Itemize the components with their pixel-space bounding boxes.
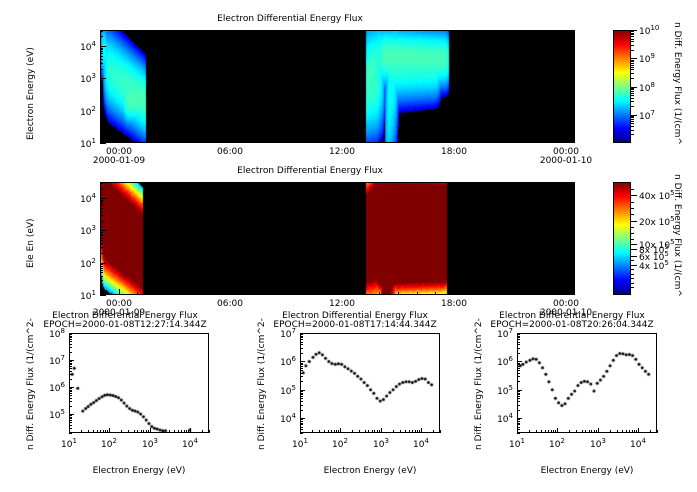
tick-label: 101	[58, 289, 96, 302]
tick-mark	[324, 430, 325, 433]
tick-mark	[105, 430, 106, 433]
tick-mark	[631, 233, 634, 234]
tick-mark	[100, 230, 106, 231]
tick-mark	[510, 140, 511, 143]
tick-mark	[300, 381, 303, 382]
tick-mark	[69, 371, 72, 372]
tick-mark	[69, 352, 72, 353]
tick-mark	[156, 292, 157, 295]
panel-1-title: Electron Differential Energy Flux	[0, 14, 580, 24]
tick-mark	[517, 391, 520, 392]
tick-mark	[69, 361, 72, 362]
tick-mark	[69, 374, 72, 375]
panel-1-colorbar-canvas	[613, 30, 631, 143]
tick-mark	[368, 430, 369, 433]
tick-label: 105	[262, 384, 296, 397]
tick-mark	[626, 430, 627, 433]
tick-mark	[300, 339, 303, 340]
tick-mark	[634, 430, 635, 433]
tick-mark	[305, 292, 306, 295]
tick-label: 107	[31, 354, 65, 367]
tick-mark	[69, 420, 72, 421]
tick-mark	[300, 421, 303, 422]
tick-mark	[631, 121, 634, 122]
tick-mark	[148, 430, 149, 433]
tick-mark	[300, 424, 303, 425]
tick-label: 101	[501, 437, 533, 450]
tick-mark	[175, 292, 176, 295]
tick-mark	[300, 423, 303, 424]
tick-mark	[631, 119, 634, 120]
tick-mark	[529, 430, 530, 433]
tick-mark	[379, 140, 380, 143]
panel-2-colorbar-label: n Diff. Energy Flux (1/(cm^	[672, 174, 682, 297]
tick-label: 102	[324, 437, 356, 450]
tick-label: 107	[639, 109, 655, 122]
tick-mark	[300, 336, 303, 337]
tick-mark	[100, 120, 103, 121]
tick-mark	[547, 292, 548, 295]
tick-mark	[300, 348, 303, 349]
tick-mark	[400, 430, 401, 433]
tick-mark	[631, 195, 637, 196]
tick-mark	[100, 292, 101, 295]
tick-mark	[69, 379, 72, 380]
tick-mark	[300, 334, 303, 335]
tick-mark	[100, 215, 103, 216]
tick-mark	[379, 292, 380, 295]
tick-mark	[100, 232, 103, 233]
tick-mark	[412, 430, 413, 433]
tick-mark	[193, 292, 194, 295]
tick-mark	[528, 292, 529, 295]
panel-2-heatmap-canvas	[100, 182, 575, 295]
tick-mark	[305, 140, 306, 143]
tick-mark	[300, 428, 301, 433]
tick-label: 105	[479, 384, 513, 397]
tick-mark	[162, 430, 163, 433]
tick-mark	[517, 344, 520, 345]
tick-label: 106	[262, 355, 296, 368]
tick-mark	[300, 370, 303, 371]
tick-mark	[300, 361, 305, 362]
tick-mark	[119, 137, 120, 143]
tick-mark	[100, 253, 103, 254]
tick-mark	[100, 270, 103, 271]
tick-mark	[324, 292, 325, 295]
tick-mark	[491, 140, 492, 143]
tick-mark	[582, 430, 583, 433]
tick-mark	[491, 292, 492, 295]
tick-mark	[69, 393, 72, 394]
tick-mark	[631, 93, 634, 94]
tick-mark	[319, 430, 320, 433]
tick-mark	[517, 368, 520, 369]
tick-mark	[545, 430, 546, 433]
tick-mark	[433, 430, 434, 433]
tick-mark	[69, 368, 72, 369]
tick-mark	[69, 344, 72, 345]
tick-mark	[69, 418, 72, 419]
tick-mark	[379, 430, 380, 433]
tick-mark	[69, 406, 72, 407]
tick-mark	[517, 337, 520, 338]
tick-mark	[517, 366, 520, 367]
panel-1-heatmap-canvas	[100, 30, 575, 143]
tick-mark	[100, 124, 103, 125]
tick-mark	[517, 423, 520, 424]
tick-mark	[365, 430, 366, 433]
tick-label: 06:00	[212, 147, 248, 157]
tick-mark	[631, 106, 634, 107]
tick-mark	[100, 49, 103, 50]
tick-mark	[190, 428, 191, 433]
tick-mark	[510, 292, 511, 295]
tick-label: 12:00	[324, 147, 360, 157]
tick-mark	[398, 140, 399, 143]
tick-mark	[638, 428, 639, 433]
panel-2-ylabel: Ele En (eV)	[26, 218, 36, 268]
tick-label: 2000-01-09	[91, 156, 147, 166]
tick-mark	[100, 91, 103, 92]
tick-mark	[300, 342, 303, 343]
tick-mark	[143, 430, 144, 433]
tick-label: 1010	[639, 24, 659, 37]
tick-mark	[69, 334, 72, 335]
tick-mark	[631, 61, 634, 62]
tick-label: 106	[31, 381, 65, 394]
panel-4-xlabel: Electron Energy (eV)	[300, 466, 440, 476]
tick-label: 2000-01-10	[538, 156, 594, 166]
tick-mark	[300, 393, 303, 394]
tick-mark	[631, 134, 634, 135]
tick-mark	[576, 430, 577, 433]
tick-mark	[100, 201, 103, 202]
tick-mark	[631, 274, 634, 275]
tick-mark	[100, 272, 103, 273]
tick-mark	[69, 366, 72, 367]
tick-mark	[100, 69, 103, 70]
tick-mark	[100, 276, 103, 277]
tick-mark	[69, 337, 72, 338]
tick-mark	[100, 235, 103, 236]
tick-mark	[336, 430, 337, 433]
tick-mark	[372, 430, 373, 433]
tick-mark	[352, 430, 353, 433]
tick-mark	[631, 63, 634, 64]
tick-mark	[631, 101, 634, 102]
tick-mark	[100, 31, 103, 32]
tick-mark	[100, 268, 103, 269]
tick-mark	[631, 73, 634, 74]
tick-mark	[566, 289, 567, 295]
tick-mark	[631, 278, 634, 279]
tick-mark	[169, 430, 170, 433]
tick-mark	[88, 430, 89, 433]
tick-mark	[421, 428, 422, 433]
tick-mark	[324, 140, 325, 143]
tick-mark	[100, 234, 103, 235]
tick-mark	[109, 428, 110, 433]
tick-mark	[69, 363, 72, 364]
tick-mark	[551, 430, 552, 433]
tick-mark	[300, 391, 303, 392]
tick-mark	[517, 381, 520, 382]
tick-label: 102	[541, 437, 573, 450]
tick-mark	[69, 401, 72, 402]
tick-mark	[553, 430, 554, 433]
tick-mark	[631, 123, 634, 124]
tick-mark	[268, 140, 269, 143]
tick-mark	[100, 112, 103, 113]
tick-mark	[100, 114, 103, 115]
tick-label: 12:00	[324, 299, 360, 309]
tick-label: 108	[639, 81, 655, 94]
tick-mark	[100, 203, 103, 204]
tick-mark	[103, 430, 104, 433]
tick-mark	[100, 116, 103, 117]
tick-mark	[631, 117, 634, 118]
tick-mark	[100, 143, 106, 144]
tick-label: 109	[639, 52, 655, 65]
tick-mark	[100, 200, 103, 201]
tick-label: 103	[58, 224, 96, 237]
tick-mark	[473, 140, 474, 143]
tick-mark	[338, 430, 339, 433]
tick-mark	[631, 41, 634, 42]
tick-mark	[409, 430, 410, 433]
tick-mark	[536, 430, 537, 433]
tick-mark	[517, 394, 520, 395]
tick-mark	[286, 140, 287, 143]
tick-mark	[137, 292, 138, 295]
tick-mark	[631, 189, 634, 190]
tick-mark	[69, 388, 72, 389]
tick-mark	[100, 243, 103, 244]
tick-mark	[174, 430, 175, 433]
tick-mark	[150, 428, 151, 433]
tick-mark	[300, 433, 303, 434]
tick-mark	[631, 58, 637, 59]
tick-mark	[517, 419, 520, 420]
tick-label: 104	[622, 437, 654, 450]
tick-mark	[631, 265, 637, 266]
tick-mark	[100, 295, 106, 296]
tick-mark	[100, 128, 103, 129]
tick-label: 102	[58, 105, 96, 118]
tick-mark	[631, 283, 634, 284]
tick-label: 105	[31, 408, 65, 421]
tick-mark	[517, 428, 518, 433]
tick-mark	[359, 430, 360, 433]
tick-mark	[589, 430, 590, 433]
tick-mark	[435, 140, 436, 143]
tick-mark	[100, 48, 103, 49]
tick-mark	[517, 361, 522, 362]
tick-mark	[631, 91, 634, 92]
tick-mark	[100, 46, 106, 47]
tick-mark	[617, 430, 618, 433]
tick-mark	[417, 140, 418, 143]
tick-mark	[631, 126, 634, 127]
tick-label: 101	[53, 437, 85, 450]
tick-mark	[69, 398, 72, 399]
tick-mark	[100, 280, 103, 281]
tick-mark	[100, 240, 103, 241]
tick-mark	[517, 398, 520, 399]
tick-label: 40x 105	[639, 189, 675, 202]
tick-mark	[134, 430, 135, 433]
tick-mark	[361, 292, 362, 295]
tick-mark	[631, 208, 634, 209]
tick-mark	[300, 373, 303, 374]
tick-mark	[569, 430, 570, 433]
panel-4-scatter-canvas	[300, 333, 440, 433]
tick-mark	[361, 140, 362, 143]
tick-mark	[591, 430, 592, 433]
tick-label: 20x 105	[639, 215, 675, 228]
tick-mark	[631, 34, 634, 35]
tick-mark	[473, 292, 474, 295]
panel-2-colorbar-canvas	[613, 182, 631, 295]
tick-mark	[100, 63, 103, 64]
tick-mark	[517, 421, 520, 422]
tick-mark	[548, 430, 549, 433]
tick-mark	[631, 221, 637, 222]
tick-mark	[517, 334, 520, 335]
tick-mark	[517, 339, 520, 340]
panel-1-ylabel: Electron Energy (eV)	[26, 47, 36, 140]
tick-mark	[178, 430, 179, 433]
tick-label: 107	[262, 327, 296, 340]
tick-mark	[300, 366, 303, 367]
tick-mark	[631, 89, 634, 90]
tick-mark	[631, 130, 634, 131]
tick-mark	[377, 430, 378, 433]
tick-mark	[81, 430, 82, 433]
tick-label: 103	[582, 437, 614, 450]
tick-mark	[230, 289, 231, 295]
tick-mark	[300, 368, 303, 369]
tick-label: 104	[58, 192, 96, 205]
tick-mark	[631, 116, 634, 117]
tick-mark	[100, 53, 103, 54]
tick-mark	[631, 69, 634, 70]
tick-mark	[137, 430, 138, 433]
tick-mark	[631, 39, 634, 40]
panel-1-colorbar-label: n Diff. Energy Flux (1/(cm^	[672, 22, 682, 145]
tick-mark	[212, 292, 213, 295]
tick-mark	[517, 373, 520, 374]
tick-mark	[517, 433, 520, 434]
tick-label: 104	[262, 412, 296, 425]
tick-mark	[193, 140, 194, 143]
tick-mark	[69, 415, 72, 416]
tick-mark	[517, 336, 520, 337]
tick-mark	[300, 353, 303, 354]
tick-mark	[517, 363, 520, 364]
tick-label: 104	[58, 40, 96, 53]
tick-label: 06:00	[212, 299, 248, 309]
tick-mark	[528, 140, 529, 143]
tick-mark	[374, 430, 375, 433]
tick-mark	[300, 364, 303, 365]
tick-mark	[657, 430, 658, 433]
tick-mark	[100, 188, 103, 189]
tick-mark	[100, 59, 103, 60]
tick-mark	[517, 370, 520, 371]
tick-mark	[100, 211, 103, 212]
tick-mark	[100, 430, 101, 433]
tick-mark	[598, 428, 599, 433]
tick-mark	[631, 249, 637, 250]
tick-mark	[631, 50, 634, 51]
tick-mark	[300, 405, 303, 406]
tick-label: 103	[58, 72, 96, 85]
tick-mark	[93, 430, 94, 433]
tick-mark	[419, 430, 420, 433]
tick-mark	[300, 396, 303, 397]
tick-mark	[69, 341, 72, 342]
tick-mark	[100, 205, 103, 206]
tick-mark	[631, 65, 634, 66]
tick-mark	[596, 430, 597, 433]
tick-mark	[69, 339, 72, 340]
tick-mark	[631, 227, 634, 228]
tick-label: 101	[58, 137, 96, 150]
tick-label: 108	[31, 327, 65, 340]
tick-mark	[415, 430, 416, 433]
tick-mark	[300, 398, 303, 399]
tick-mark	[100, 80, 103, 81]
tick-mark	[517, 353, 520, 354]
tick-mark	[631, 214, 634, 215]
tick-mark	[146, 430, 147, 433]
tick-mark	[100, 198, 106, 199]
tick-mark	[312, 430, 313, 433]
tick-mark	[100, 118, 103, 119]
tick-mark	[100, 221, 103, 222]
tick-mark	[557, 428, 558, 433]
tick-mark	[566, 137, 567, 143]
tick-mark	[517, 364, 520, 365]
tick-mark	[632, 430, 633, 433]
panel-5-scatter-canvas	[517, 333, 657, 433]
tick-mark	[100, 101, 103, 102]
tick-mark	[100, 140, 101, 143]
panel-3-scatter-canvas	[69, 333, 209, 433]
tick-mark	[631, 95, 634, 96]
tick-mark	[300, 419, 303, 420]
tick-mark	[212, 140, 213, 143]
tick-mark	[631, 45, 634, 46]
tick-mark	[300, 410, 303, 411]
tick-mark	[636, 430, 637, 433]
tick-mark	[393, 430, 394, 433]
tick-mark	[517, 401, 520, 402]
tick-mark	[334, 430, 335, 433]
tick-mark	[398, 292, 399, 295]
tick-label: 18:00	[436, 147, 472, 157]
tick-mark	[517, 342, 520, 343]
tick-mark	[340, 428, 341, 433]
tick-mark	[517, 410, 520, 411]
panel-3-xlabel: Electron Energy (eV)	[69, 466, 209, 476]
panel-5-xlabel: Electron Energy (eV)	[517, 466, 657, 476]
tick-mark	[631, 269, 634, 270]
tick-mark	[454, 137, 455, 143]
tick-mark	[100, 133, 103, 134]
